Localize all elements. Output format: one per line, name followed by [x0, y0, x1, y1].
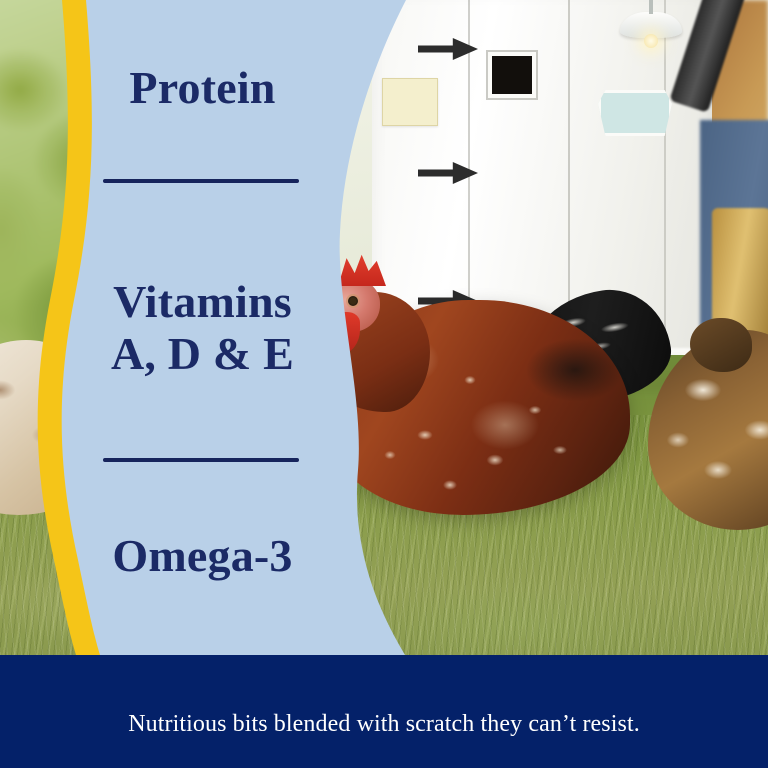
ad-creative: Protein Vitamins A, D & E Omega-3 Nutrit…: [0, 0, 768, 768]
benefit-omega3-label: Omega-3: [112, 530, 292, 581]
benefit-protein-label: Protein: [129, 62, 275, 113]
divider-2: [103, 458, 299, 462]
divider-1: [103, 179, 299, 183]
tagline-text: Nutritious bits blended with scratch the…: [0, 655, 768, 768]
lamp-stem: [649, 0, 653, 14]
benefit-vitamins: Vitamins A, D & E: [0, 278, 405, 378]
benefits-panel: Protein Vitamins A, D & E Omega-3: [0, 0, 405, 655]
benefit-vitamins-label-line2: A, D & E: [0, 330, 405, 378]
speckled-hen-head: [690, 318, 752, 372]
teal-sign: [598, 90, 672, 136]
benefit-protein: Protein: [0, 64, 405, 112]
lamp-bulb: [644, 34, 658, 48]
coop-window: [488, 52, 536, 98]
tagline-banner: Nutritious bits blended with scratch the…: [0, 655, 768, 768]
benefit-omega3: Omega-3: [0, 532, 405, 580]
benefit-vitamins-label-line1: Vitamins: [113, 276, 292, 327]
